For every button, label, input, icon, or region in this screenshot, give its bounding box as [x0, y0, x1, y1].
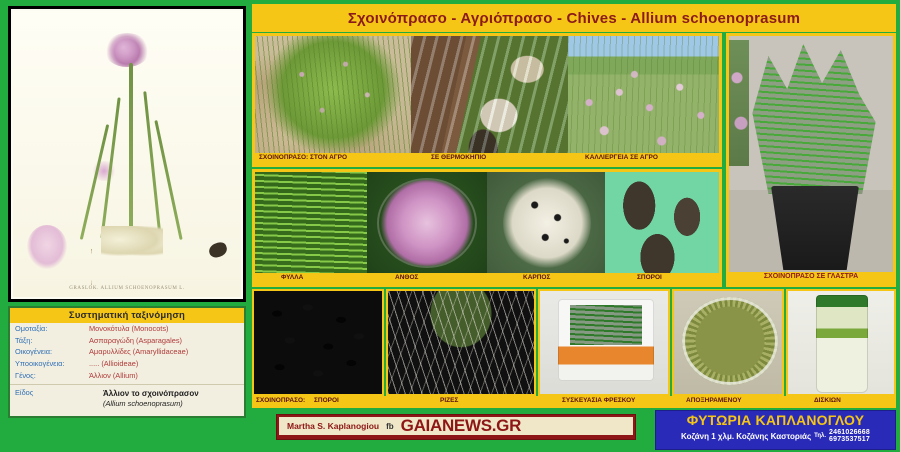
taxonomy-rank-label: Ομοταξία:: [15, 324, 89, 335]
taxonomy-table: Συστηματική ταξινόμηση Ομοταξία: Μονοκότ…: [8, 306, 246, 418]
caption-potted-chives: ΣΧΟΙΝΟΠΡΑΣΟ ΣΕ ΓΛΑΣΤΡΑ: [729, 272, 893, 284]
taxonomy-rank-value: Αμαρυλλίδες (Amaryllidaceae): [89, 347, 188, 358]
page-title: Σχοινόπρασο - Αγριόπρασο - Chives - Alli…: [252, 4, 896, 32]
table-row: Τάξη: Ασπαραγώδη (Asparagales): [10, 335, 244, 347]
caption-row3-prefix: ΣΧΟΙΝΟΠΡΑΣΟ:: [256, 397, 305, 404]
gaianews-banner-inner: Martha S. Kaplanogiou fb GAIANEWS.GR: [279, 417, 633, 435]
nursery-phone-2: 6973537517: [829, 436, 870, 443]
caption-roots: ΡΙΖΕΣ: [440, 397, 458, 404]
main-panel: Σχοινόπρασο - Αγριόπρασο - Chives - Alli…: [252, 4, 896, 408]
author-credit: Martha S. Kaplanogiou: [287, 421, 379, 431]
caption-fresh-packaging: ΣΥΣΚΕΥΑΣΙΑ ΦΡΕΣΚΟΥ: [562, 397, 635, 404]
photo-potted-foliage: [747, 44, 881, 194]
taxonomy-header: Συστηματική ταξινόμηση: [10, 308, 244, 323]
photo-fruit: [487, 172, 605, 284]
photo-potted-container: [771, 186, 859, 270]
photo-greenhouse-workers: [411, 36, 568, 164]
photo-row-2: ΦΥΛΛΑ ΑΝΘΟΣ ΚΑΡΠΟΣ ΣΠΟΡΟΙ: [252, 169, 722, 287]
species-name-latin: (Allium schoenoprasum): [103, 399, 199, 410]
gaianews-banner[interactable]: Martha S. Kaplanogiou fb GAIANEWS.GR: [276, 414, 636, 440]
photo-row-3: ΣΧΟΙΝΟΠΡΑΣΟ: ΣΠΟΡΟΙ ΡΙΖΕΣ ΣΥΣΚΕΥΑΣΙΑ ΦΡΕ…: [252, 289, 896, 408]
species-name-greek: Άλλιον το σχοινόπρασον: [103, 388, 199, 400]
taxonomy-rank-value: Άλλιον (Allium): [89, 371, 138, 382]
page-title-text: Σχοινόπρασο - Αγριόπρασο - Chives - Alli…: [348, 10, 800, 27]
taxonomy-rank-label: Γένος:: [15, 371, 89, 382]
taxonomy-rank-value: Μονοκότυλα (Monocots): [89, 324, 169, 335]
photo-row-1: ΣΧΟΙΝΟΠΡΑΣΟ: ΣΤΟΝ ΑΓΡΟ ΣΕ ΘΕΡΜΟΚΗΠΙΟ ΚΑΛ…: [252, 33, 722, 167]
photo-chives-in-field: [255, 36, 411, 164]
taxonomy-rank-value: Ασπαραγώδη (Asparagales): [89, 336, 182, 347]
taxonomy-rank-label: Οικογένεια:: [15, 347, 89, 358]
caption-fruit: ΚΑΡΠΟΣ: [523, 274, 550, 281]
table-row: Ομοταξία: Μονοκότυλα (Monocots): [10, 323, 244, 335]
botanical-illustration: GRASLOK. ALLIUM SCHOENOPRASUM L.: [8, 6, 246, 302]
photo-field-cultivation: [568, 36, 719, 164]
illustration-stem: [129, 63, 133, 238]
illustration-flower-detail: [27, 225, 67, 269]
caption-greenhouse: ΣΕ ΘΕΡΜΟΚΗΠΙΟ: [431, 154, 486, 161]
caption-dried: ΑΠΟΞΗΡΑΜΕΝΟΥ: [686, 397, 742, 404]
photo-leaves: [255, 172, 367, 284]
nursery-phone-1: 2461026668: [829, 429, 870, 436]
poster-root: GRASLOK. ALLIUM SCHOENOPRASUM L. Συστημα…: [0, 0, 900, 452]
caption-tablets: ΔΙΣΚΙΩΝ: [814, 397, 841, 404]
table-row: Οικογένεια: Αμαρυλλίδες (Amaryllidaceae): [10, 346, 244, 358]
nursery-ad-banner[interactable]: ΦΥΤΩΡΙΑ ΚΑΠΛΑΝΟΓΛΟΥ Κοζάνη 1 χλμ. Κοζάνη…: [655, 410, 896, 450]
photo-row-1-caption-bar: ΣΧΟΙΝΟΠΡΑΣΟ: ΣΤΟΝ ΑΓΡΟ ΣΕ ΘΕΡΜΟΚΗΠΙΟ ΚΑΛ…: [255, 153, 719, 164]
photo-dried-jar: [672, 289, 784, 396]
taxonomy-rank-label: Τάξη:: [15, 336, 89, 347]
photo-roots: [386, 289, 536, 396]
caption-field-cultivation: ΚΑΛΛΙΕΡΓΕΙΑ ΣΕ ΑΓΡΟ: [585, 154, 658, 161]
table-row: Γένος: Άλλιον (Allium): [10, 370, 244, 382]
photo-grid: ΣΧΟΙΝΟΠΡΑΣΟ: ΣΤΟΝ ΑΓΡΟ ΣΕ ΘΕΡΜΟΚΗΠΙΟ ΚΑΛ…: [252, 33, 896, 408]
table-row: Υποοικογένεια: ..... (Allioideae): [10, 358, 244, 370]
caption-chives-in-field: ΣΧΟΙΝΟΠΡΑΣΟ: ΣΤΟΝ ΑΓΡΟ: [259, 154, 347, 161]
photo-seeds-closeup: [252, 289, 384, 396]
photo-tablets-container: [786, 289, 896, 396]
photo-seeds: [605, 172, 719, 284]
nursery-contact-row: Κοζάνη 1 χλμ. Κοζάνης Καστοριάς Τηλ. 246…: [656, 428, 895, 444]
taxonomy-rank-value: ..... (Allioideae): [89, 359, 138, 370]
illustration-stem: [143, 91, 161, 239]
illustration-roots: [91, 249, 175, 285]
caption-seeds: ΣΠΟΡΟΙ: [637, 274, 662, 281]
photo-potted-background-flowers: [729, 40, 749, 166]
photo-row-3-caption-bar: ΣΧΟΙΝΟΠΡΑΣΟ: ΣΠΟΡΟΙ ΡΙΖΕΣ ΣΥΣΚΕΥΑΣΙΑ ΦΡΕ…: [252, 396, 896, 408]
photo-row-2-caption-bar: ΦΥΛΛΑ ΑΝΘΟΣ ΚΑΡΠΟΣ ΣΠΟΡΟΙ: [255, 273, 719, 284]
botanical-illustration-canvas: GRASLOK. ALLIUM SCHOENOPRASUM L.: [13, 11, 241, 297]
illustration-seed-detail: [207, 241, 228, 260]
nursery-tel-label: Τηλ.: [814, 433, 826, 439]
table-row-species: Είδος Άλλιον το σχοινόπρασον (Allium sch…: [10, 384, 244, 410]
photo-potted-chives: ΣΧΟΙΝΟΠΡΑΣΟ ΣΕ ΓΛΑΣΤΡΑ: [726, 33, 896, 287]
facebook-label[interactable]: fb: [386, 422, 394, 431]
taxonomy-species-label: Είδος: [15, 388, 89, 399]
taxonomy-rank-label: Υποοικογένεια:: [15, 359, 89, 370]
caption-leaves: ΦΥΛΛΑ: [281, 274, 303, 281]
photo-flower: [367, 172, 487, 284]
nursery-address: Κοζάνη 1 χλμ. Κοζάνης Καστοριάς: [681, 432, 811, 441]
nursery-name: ΦΥΤΩΡΙΑ ΚΑΠΛΑΝΟΓΛΟΥ: [656, 411, 895, 428]
caption-seeds-closeup: ΣΠΟΡΟΙ: [314, 397, 339, 404]
left-column: GRASLOK. ALLIUM SCHOENOPRASUM L. Συστημα…: [8, 6, 246, 418]
site-url[interactable]: GAIANEWS.GR: [401, 416, 521, 436]
illustration-flower-head: [104, 33, 150, 67]
botanical-illustration-caption: GRASLOK. ALLIUM SCHOENOPRASUM L.: [13, 286, 241, 291]
caption-flower: ΑΝΘΟΣ: [395, 274, 418, 281]
nursery-phone-list: 2461026668 6973537517: [829, 429, 870, 444]
photo-fresh-packaging: [538, 289, 670, 396]
